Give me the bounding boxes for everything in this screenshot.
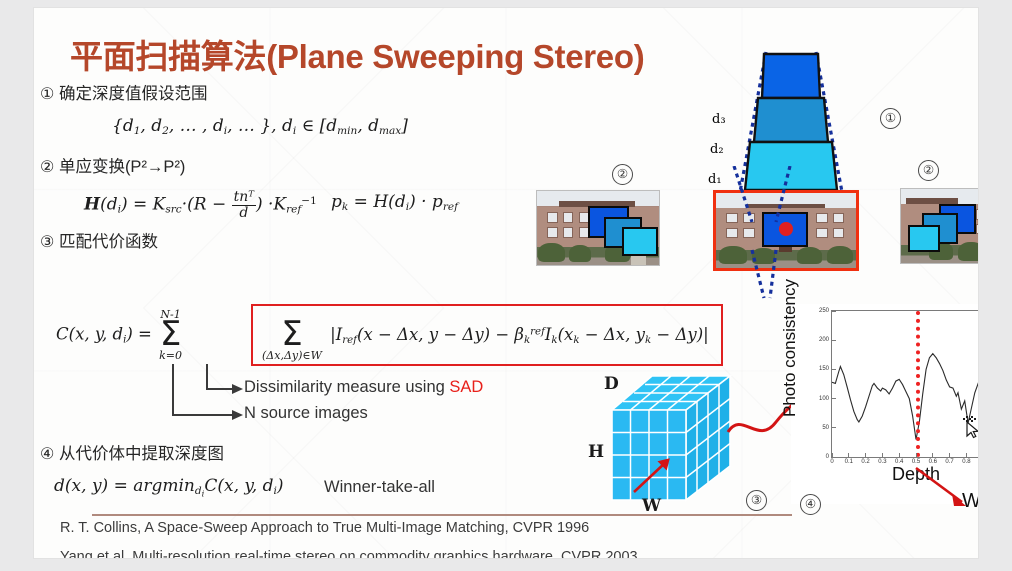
step-4: ④ 从代价体中提取深度图 [40, 440, 224, 464]
annotation-n-source-images: N source images [244, 404, 368, 423]
annotation-dissimilarity-text: Dissimilarity measure using [244, 378, 449, 396]
step-2: ② 单应变换(P²→P²) [40, 153, 185, 177]
chart-y-tick: 0 [826, 454, 829, 460]
chart-x-tick-mark [916, 453, 917, 457]
chart-y-tick: 200 [819, 337, 829, 343]
chart-x-tick-mark [882, 453, 883, 457]
chart-x-tick-mark [865, 453, 866, 457]
frustum-depth-label-d2: d₂ [710, 142, 724, 157]
chart-x-tick-mark [848, 453, 849, 457]
chart-y-tick-mark [832, 369, 836, 370]
chart-x-tick-mark [899, 453, 900, 457]
step-4-number: ④ [40, 446, 54, 463]
step-1: ① 确定深度值假设范围 [40, 80, 207, 104]
callout-3: ③ [746, 490, 767, 511]
chart-y-tick: 100 [819, 396, 829, 402]
step-3-number: ③ [40, 234, 54, 251]
mouse-cursor-icon [960, 415, 978, 439]
callout-4: ④ [800, 494, 821, 515]
chart-x-tick-mark [966, 453, 967, 457]
slide: 平面扫描算法(Plane Sweeping Stereo) ① 确定深度值假设范… [34, 8, 978, 558]
chart-y-tick-mark [832, 340, 836, 341]
chart-y-tick-mark [832, 398, 836, 399]
source-left-square-near [622, 227, 658, 256]
chart-line-series [832, 311, 978, 457]
winner-label: Winner [962, 490, 978, 513]
cube-label-height: H [588, 442, 604, 462]
chart-plot-area: 05010015020025000.10.20.30.40.50.60.70.8… [831, 310, 978, 458]
frustum-depth-label-d3: d₃ [712, 112, 726, 127]
annotation-sad-label: SAD [449, 378, 483, 396]
chart-x-tick-mark [932, 453, 933, 457]
chart-y-axis-label: Photo consistency [780, 263, 800, 433]
callout-2-right: ② [918, 160, 939, 181]
formula-cost: C(x, y, di) = N-1 Σ k=0 [56, 308, 184, 362]
callout-1: ① [880, 108, 901, 129]
formula-cost-inner: Σ (Δx,Δy)∈W |Iref(x − Δx, y − Δy) − βkre… [259, 308, 709, 362]
annotation-bracket-outer [172, 364, 174, 416]
reference-2: Yang et al. Multi-resolution real-time s… [60, 549, 638, 558]
annotation-bracket-inner-arm [206, 388, 234, 390]
chart-y-tick-mark [832, 427, 836, 428]
chart-x-tick-mark [949, 453, 950, 457]
step-1-number: ① [40, 86, 54, 103]
cube-label-depth: D [604, 374, 619, 394]
page-title: 平面扫描算法(Plane Sweeping Stereo) [70, 30, 644, 78]
step-1-heading: 确定深度值假设范围 [59, 85, 208, 103]
annotation-arrow-outer-icon [232, 408, 244, 427]
formula-depth-set: {d1, d2, … , di, … }, di ∈ [dmin, dmax] [112, 116, 408, 137]
chart-y-tick: 50 [822, 425, 829, 431]
source-image-right [900, 188, 978, 264]
chart-x-tick-mark [832, 453, 833, 457]
annotation-bracket-inner [206, 364, 208, 390]
source-image-left [536, 190, 660, 266]
formula-argmin: d(x, y) = argmindiC(x, y, di) [54, 476, 283, 498]
reference-divider [92, 514, 792, 516]
callout-2-left: ② [612, 164, 633, 185]
annotation-bracket-outer-arm [172, 414, 234, 416]
chart-y-tick: 250 [819, 308, 829, 314]
chart-winner-marker-line [916, 311, 920, 457]
formula-homography: H(di) = Ksrc·(R − tnTd) ·Kref−1 [84, 190, 317, 220]
formula-point-map: pk = H(di) · pref [331, 192, 458, 213]
annotation-winner-take-all: Winner-take-all [324, 478, 435, 497]
annotation-arrow-inner-icon [232, 382, 244, 401]
cube-label-width: W [642, 496, 661, 516]
chart-y-tick: 150 [819, 366, 829, 372]
source-right-square-near [908, 225, 940, 253]
annotation-dissimilarity: Dissimilarity measure using SAD [244, 378, 483, 397]
chart-y-tick-mark [832, 311, 836, 312]
step-3-heading: 匹配代价函数 [59, 233, 158, 251]
reference-1: R. T. Collins, A Space-Sweep Approach to… [60, 520, 589, 536]
step-2-number: ② [40, 159, 54, 176]
chart-y-tick-mark [832, 457, 836, 458]
step-2-heading: 单应变换(P²→P²) [59, 158, 186, 176]
step-3: ③ 匹配代价函数 [40, 228, 158, 252]
step-4-heading: 从代价体中提取深度图 [59, 445, 224, 463]
